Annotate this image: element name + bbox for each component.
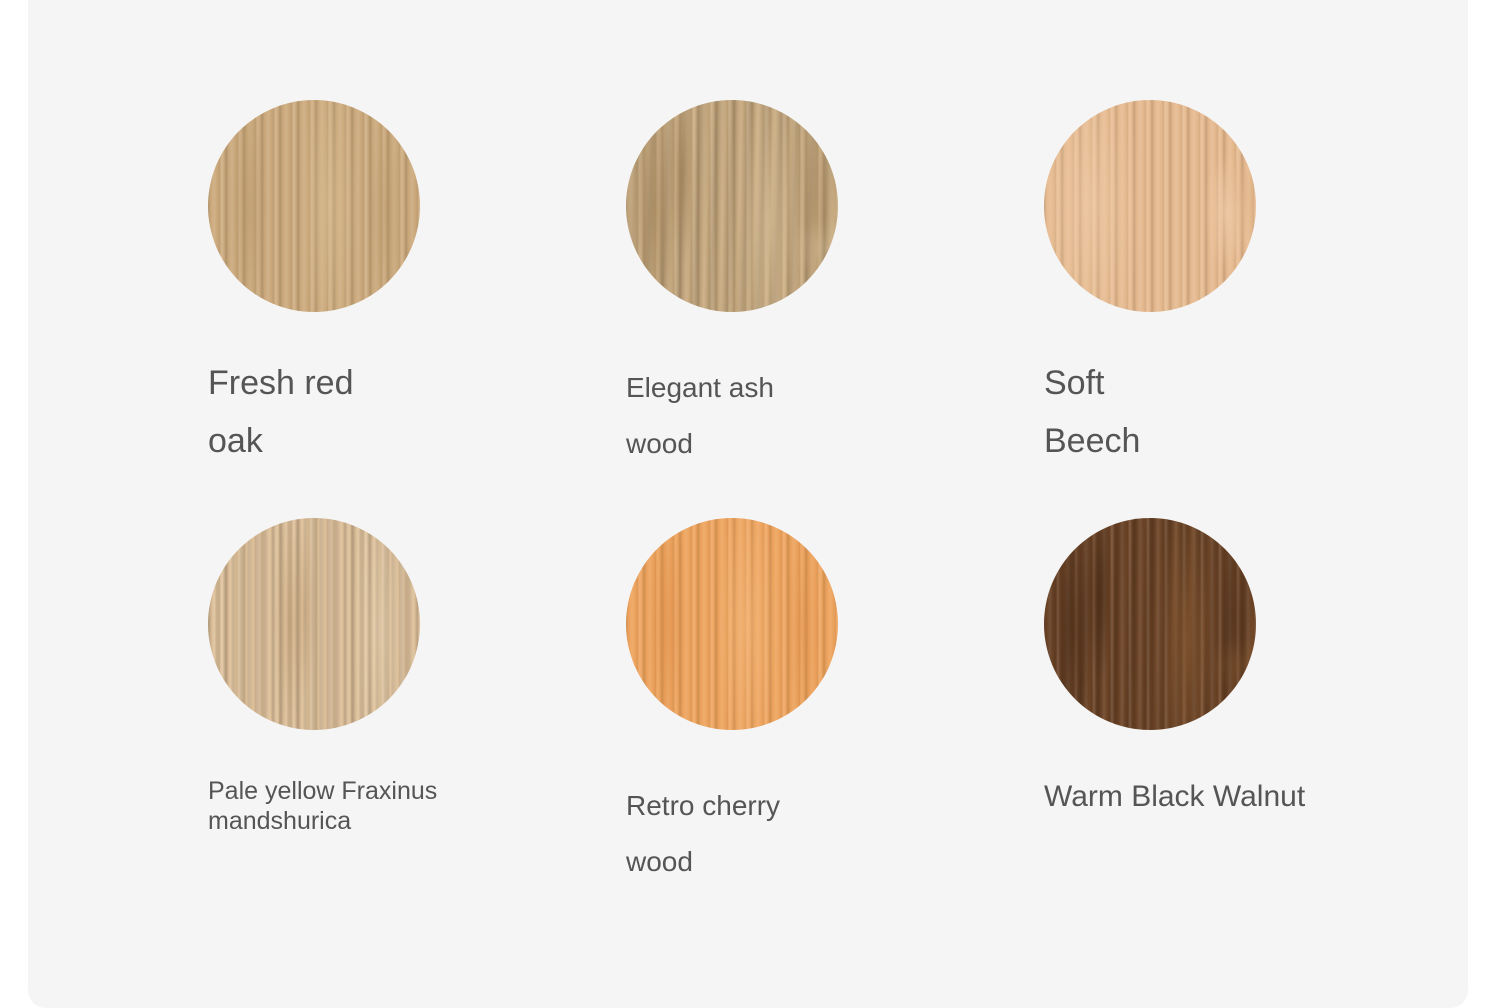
swatch-label: Soft Beech xyxy=(1044,354,1464,470)
swatch-card[interactable]: Fresh red oak xyxy=(208,100,628,470)
wood-grain-layer xyxy=(626,100,838,312)
wood-grain-layer xyxy=(626,518,838,730)
swatch-card[interactable]: Soft Beech xyxy=(1044,100,1464,470)
swatch-label: Retro cherry wood xyxy=(626,778,1046,890)
wood-grain-texture xyxy=(1044,518,1256,730)
content-panel: Fresh red oakElegant ash woodSoft BeechP… xyxy=(28,0,1468,1008)
swatch-card[interactable]: Pale yellow Fraxinus mandshurica xyxy=(208,518,628,836)
swatch-label: Pale yellow Fraxinus mandshurica xyxy=(208,776,628,836)
wood-swatch-circle[interactable] xyxy=(1044,100,1256,312)
wood-swatch-circle[interactable] xyxy=(1044,518,1256,730)
wood-grain-texture xyxy=(626,100,838,312)
swatch-label: Fresh red oak xyxy=(208,354,628,470)
wood-grain-layer xyxy=(208,518,420,730)
swatch-label: Warm Black Walnut xyxy=(1044,780,1464,814)
wood-grain-texture xyxy=(1044,100,1256,312)
wood-swatch-circle[interactable] xyxy=(626,518,838,730)
wood-swatch-circle[interactable] xyxy=(208,100,420,312)
swatch-card[interactable]: Elegant ash wood xyxy=(626,100,1046,472)
wood-grain-texture xyxy=(208,518,420,730)
wood-swatch-circle[interactable] xyxy=(626,100,838,312)
swatch-label: Elegant ash wood xyxy=(626,360,1046,472)
swatch-card[interactable]: Warm Black Walnut xyxy=(1044,518,1464,814)
wood-grain-texture xyxy=(208,100,420,312)
wood-grain-layer xyxy=(208,100,420,312)
wood-swatch-circle[interactable] xyxy=(208,518,420,730)
wood-grain-layer xyxy=(1044,100,1256,312)
wood-swatch-grid: Fresh red oakElegant ash woodSoft BeechP… xyxy=(28,0,1468,1008)
wood-grain-texture xyxy=(626,518,838,730)
swatch-card[interactable]: Retro cherry wood xyxy=(626,518,1046,890)
wood-grain-layer xyxy=(1044,518,1256,730)
